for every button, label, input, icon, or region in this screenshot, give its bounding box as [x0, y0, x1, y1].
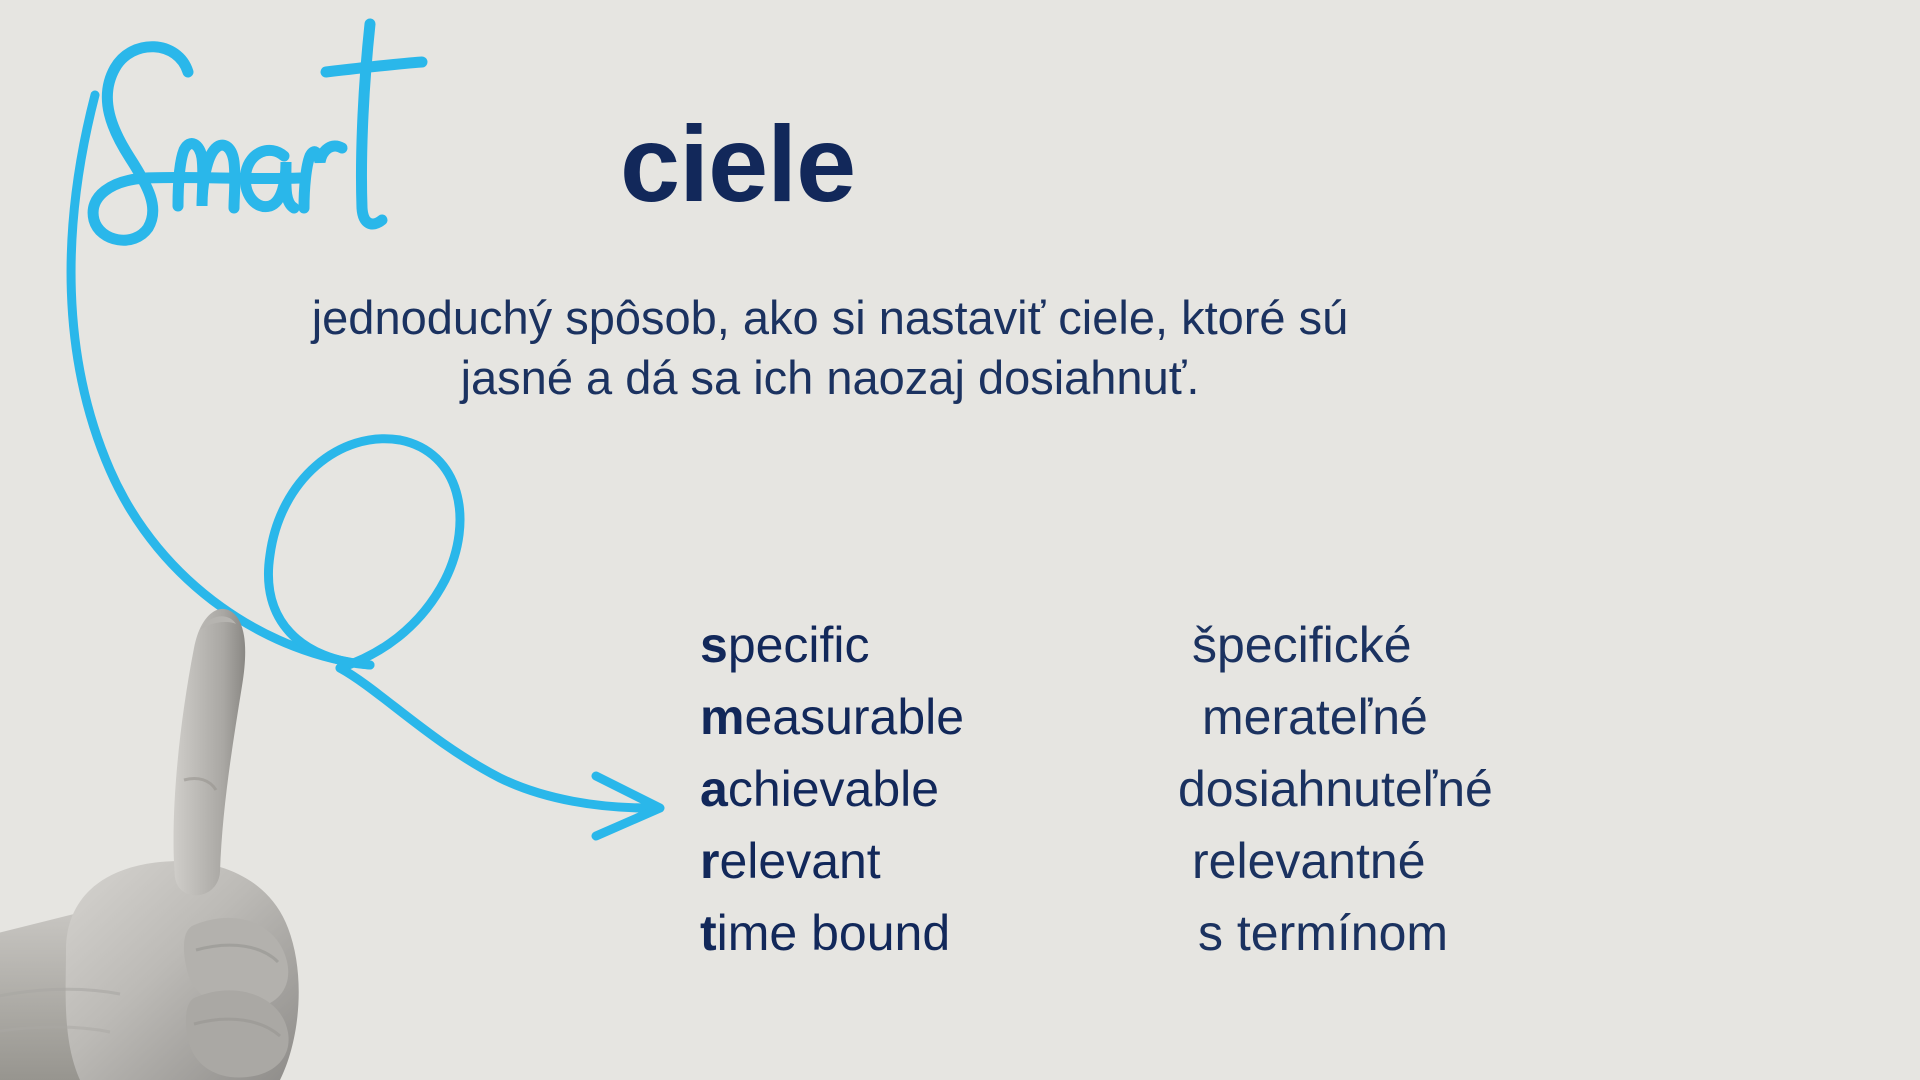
list-item: achievable dosiahnuteľné [700, 764, 1700, 836]
title-bold-ciele: ciele [620, 110, 855, 218]
smart-term-sk-2: dosiahnuteľné [1150, 764, 1648, 814]
smart-term-sk-0: špecifické [1150, 620, 1662, 670]
initial-letter: r [700, 833, 719, 889]
title-script-smart [60, 10, 580, 250]
hand-graphic [0, 480, 440, 1080]
smart-term-sk-1: merateľné [1150, 692, 1672, 742]
list-item: measurable merateľné [700, 692, 1700, 764]
thumbs-up-hand-image [0, 480, 440, 1080]
list-item: relevant relevantné [700, 836, 1700, 908]
subtitle: jednoduchý spôsob, ako si nastaviť ciele… [180, 288, 1480, 408]
term-rest: chievable [728, 761, 939, 817]
initial-letter: s [700, 617, 728, 673]
term-rest: easurable [744, 689, 964, 745]
subtitle-line-2: jasné a dá sa ich naozaj dosiahnuť. [180, 348, 1480, 408]
slide-canvas: ciele jednoduchý spôsob, ako si nastaviť… [0, 0, 1920, 1080]
initial-letter: m [700, 689, 744, 745]
arrow-head-right [596, 776, 660, 836]
list-item: time bound s termínom [700, 908, 1700, 980]
smart-list: specific špecifické measurable merateľné… [700, 620, 1700, 980]
term-rest: elevant [719, 833, 880, 889]
subtitle-line-1: jednoduchý spôsob, ako si nastaviť ciele… [312, 291, 1349, 344]
smart-term-en-3: relevant [700, 836, 1150, 886]
smart-term-en-1: measurable [700, 692, 1150, 742]
initial-letter: a [700, 761, 728, 817]
smart-term-sk-3: relevantné [1150, 836, 1662, 886]
smart-term-en-0: specific [700, 620, 1150, 670]
term-rest: pecific [728, 617, 870, 673]
term-rest: ime bound [717, 905, 951, 961]
smart-term-en-4: time bound [700, 908, 1150, 958]
smart-term-en-2: achievable [700, 764, 1150, 814]
smart-term-sk-4: s termínom [1150, 908, 1668, 958]
list-item: specific špecifické [700, 620, 1700, 692]
page-title: ciele [60, 10, 1060, 250]
initial-letter: t [700, 905, 717, 961]
